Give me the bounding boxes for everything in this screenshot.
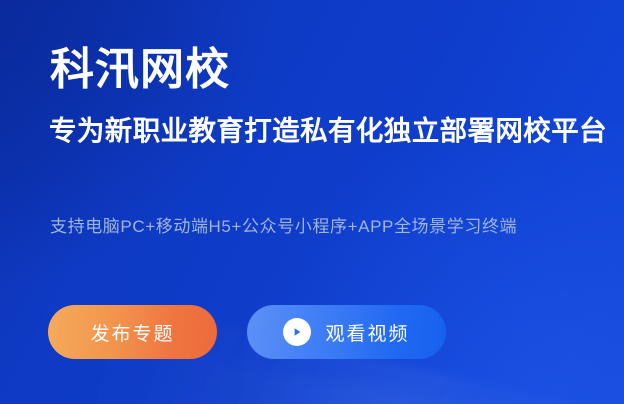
subheadline-text: 支持电脑PC+移动端H5+公众号小程序+APP全场景学习终端 bbox=[50, 214, 517, 240]
banner-content: 科汛网校 专为新职业教育打造私有化独立部署网校平台 支持电脑PC+移动端H5+公… bbox=[0, 0, 624, 404]
brand-title: 科汛网校 bbox=[50, 41, 230, 99]
play-icon bbox=[283, 318, 311, 346]
watch-video-button[interactable]: 观看视频 bbox=[247, 305, 446, 359]
publish-topic-button-label: 发布专题 bbox=[90, 319, 174, 346]
hero-banner: 科汛网校 专为新职业教育打造私有化独立部署网校平台 支持电脑PC+移动端H5+公… bbox=[0, 0, 624, 404]
headline-text: 专为新职业教育打造私有化独立部署网校平台 bbox=[49, 112, 607, 150]
publish-topic-button[interactable]: 发布专题 bbox=[48, 305, 217, 359]
watch-video-button-label: 观看视频 bbox=[325, 319, 409, 346]
cta-button-row: 发布专题 观看视频 bbox=[48, 305, 446, 359]
